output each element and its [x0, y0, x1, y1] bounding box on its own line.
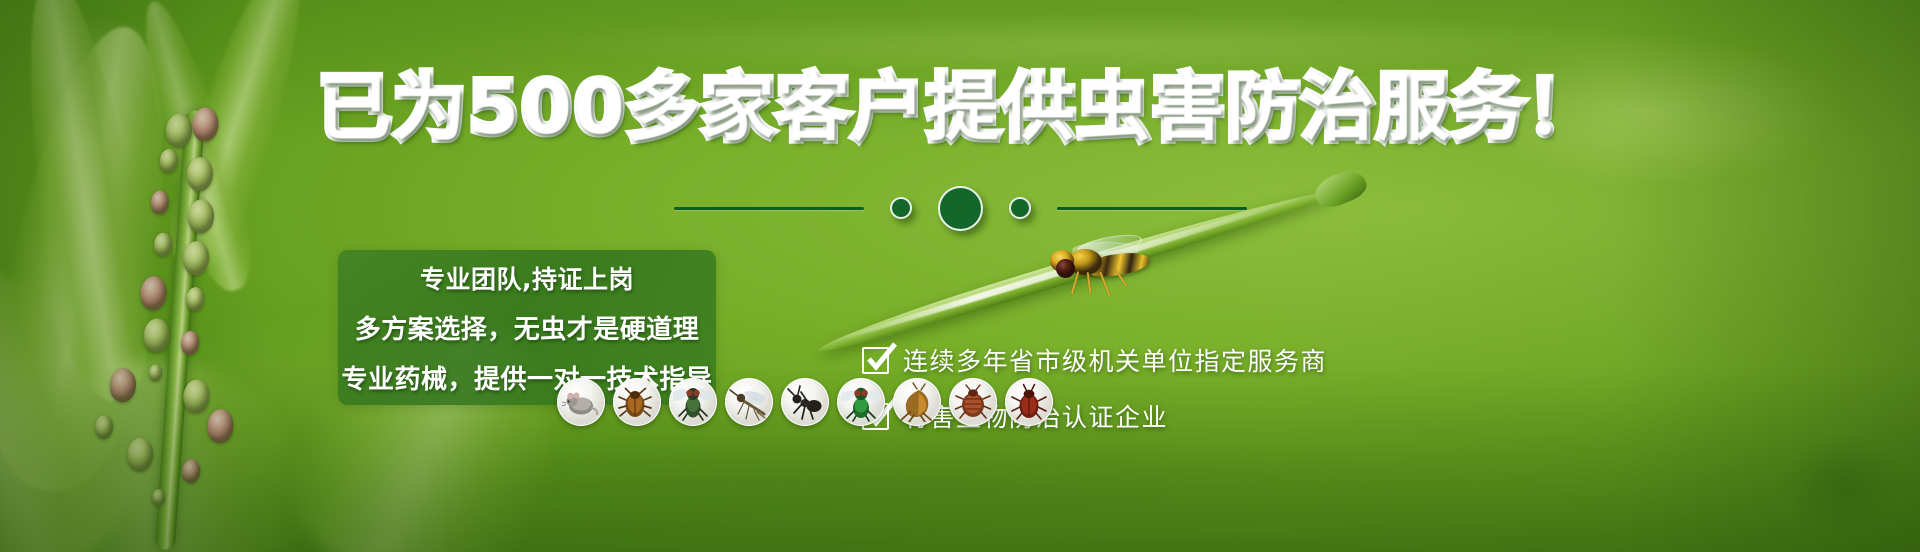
pest-icon-strip — [557, 378, 1053, 426]
ant-icon[interactable] — [781, 378, 829, 426]
checklist-item: 连续多年省市级机关单位指定服务商 — [862, 342, 1327, 378]
selling-point-1: 专业团队,持证上岗 — [420, 260, 634, 296]
mosquito-icon[interactable] — [725, 378, 773, 426]
blowfly-icon[interactable] — [837, 378, 885, 426]
flea-icon[interactable] — [893, 378, 941, 426]
selling-point-2: 多方案选择，无虫才是硬道理 — [355, 309, 700, 346]
fly-icon[interactable] — [669, 378, 717, 426]
checkbox-checked-icon — [862, 347, 889, 374]
divider-dot-large — [938, 186, 983, 231]
decorative-divider — [0, 186, 1920, 230]
promo-banner: 已为500多家客户提供虫害防治服务！ 专业团队,持证上岗 多方案选择，无虫才是硬… — [0, 0, 1920, 552]
divider-dot-small-right — [1009, 197, 1031, 219]
beetle-icon[interactable] — [1005, 378, 1053, 426]
cockroach-icon[interactable] — [613, 378, 661, 426]
banner-headline: 已为500多家客户提供虫害防治服务！ — [0, 72, 1920, 145]
divider-rule-right — [1057, 207, 1247, 210]
bedbug-icon[interactable] — [949, 378, 997, 426]
banner-headline-text: 已为500多家客户提供虫害防治服务！ — [318, 66, 1601, 151]
checklist-item-label: 连续多年省市级机关单位指定服务商 — [903, 342, 1327, 378]
divider-rule-left — [674, 207, 864, 210]
divider-dot-small-left — [890, 197, 912, 219]
rat-icon[interactable] — [557, 378, 605, 426]
